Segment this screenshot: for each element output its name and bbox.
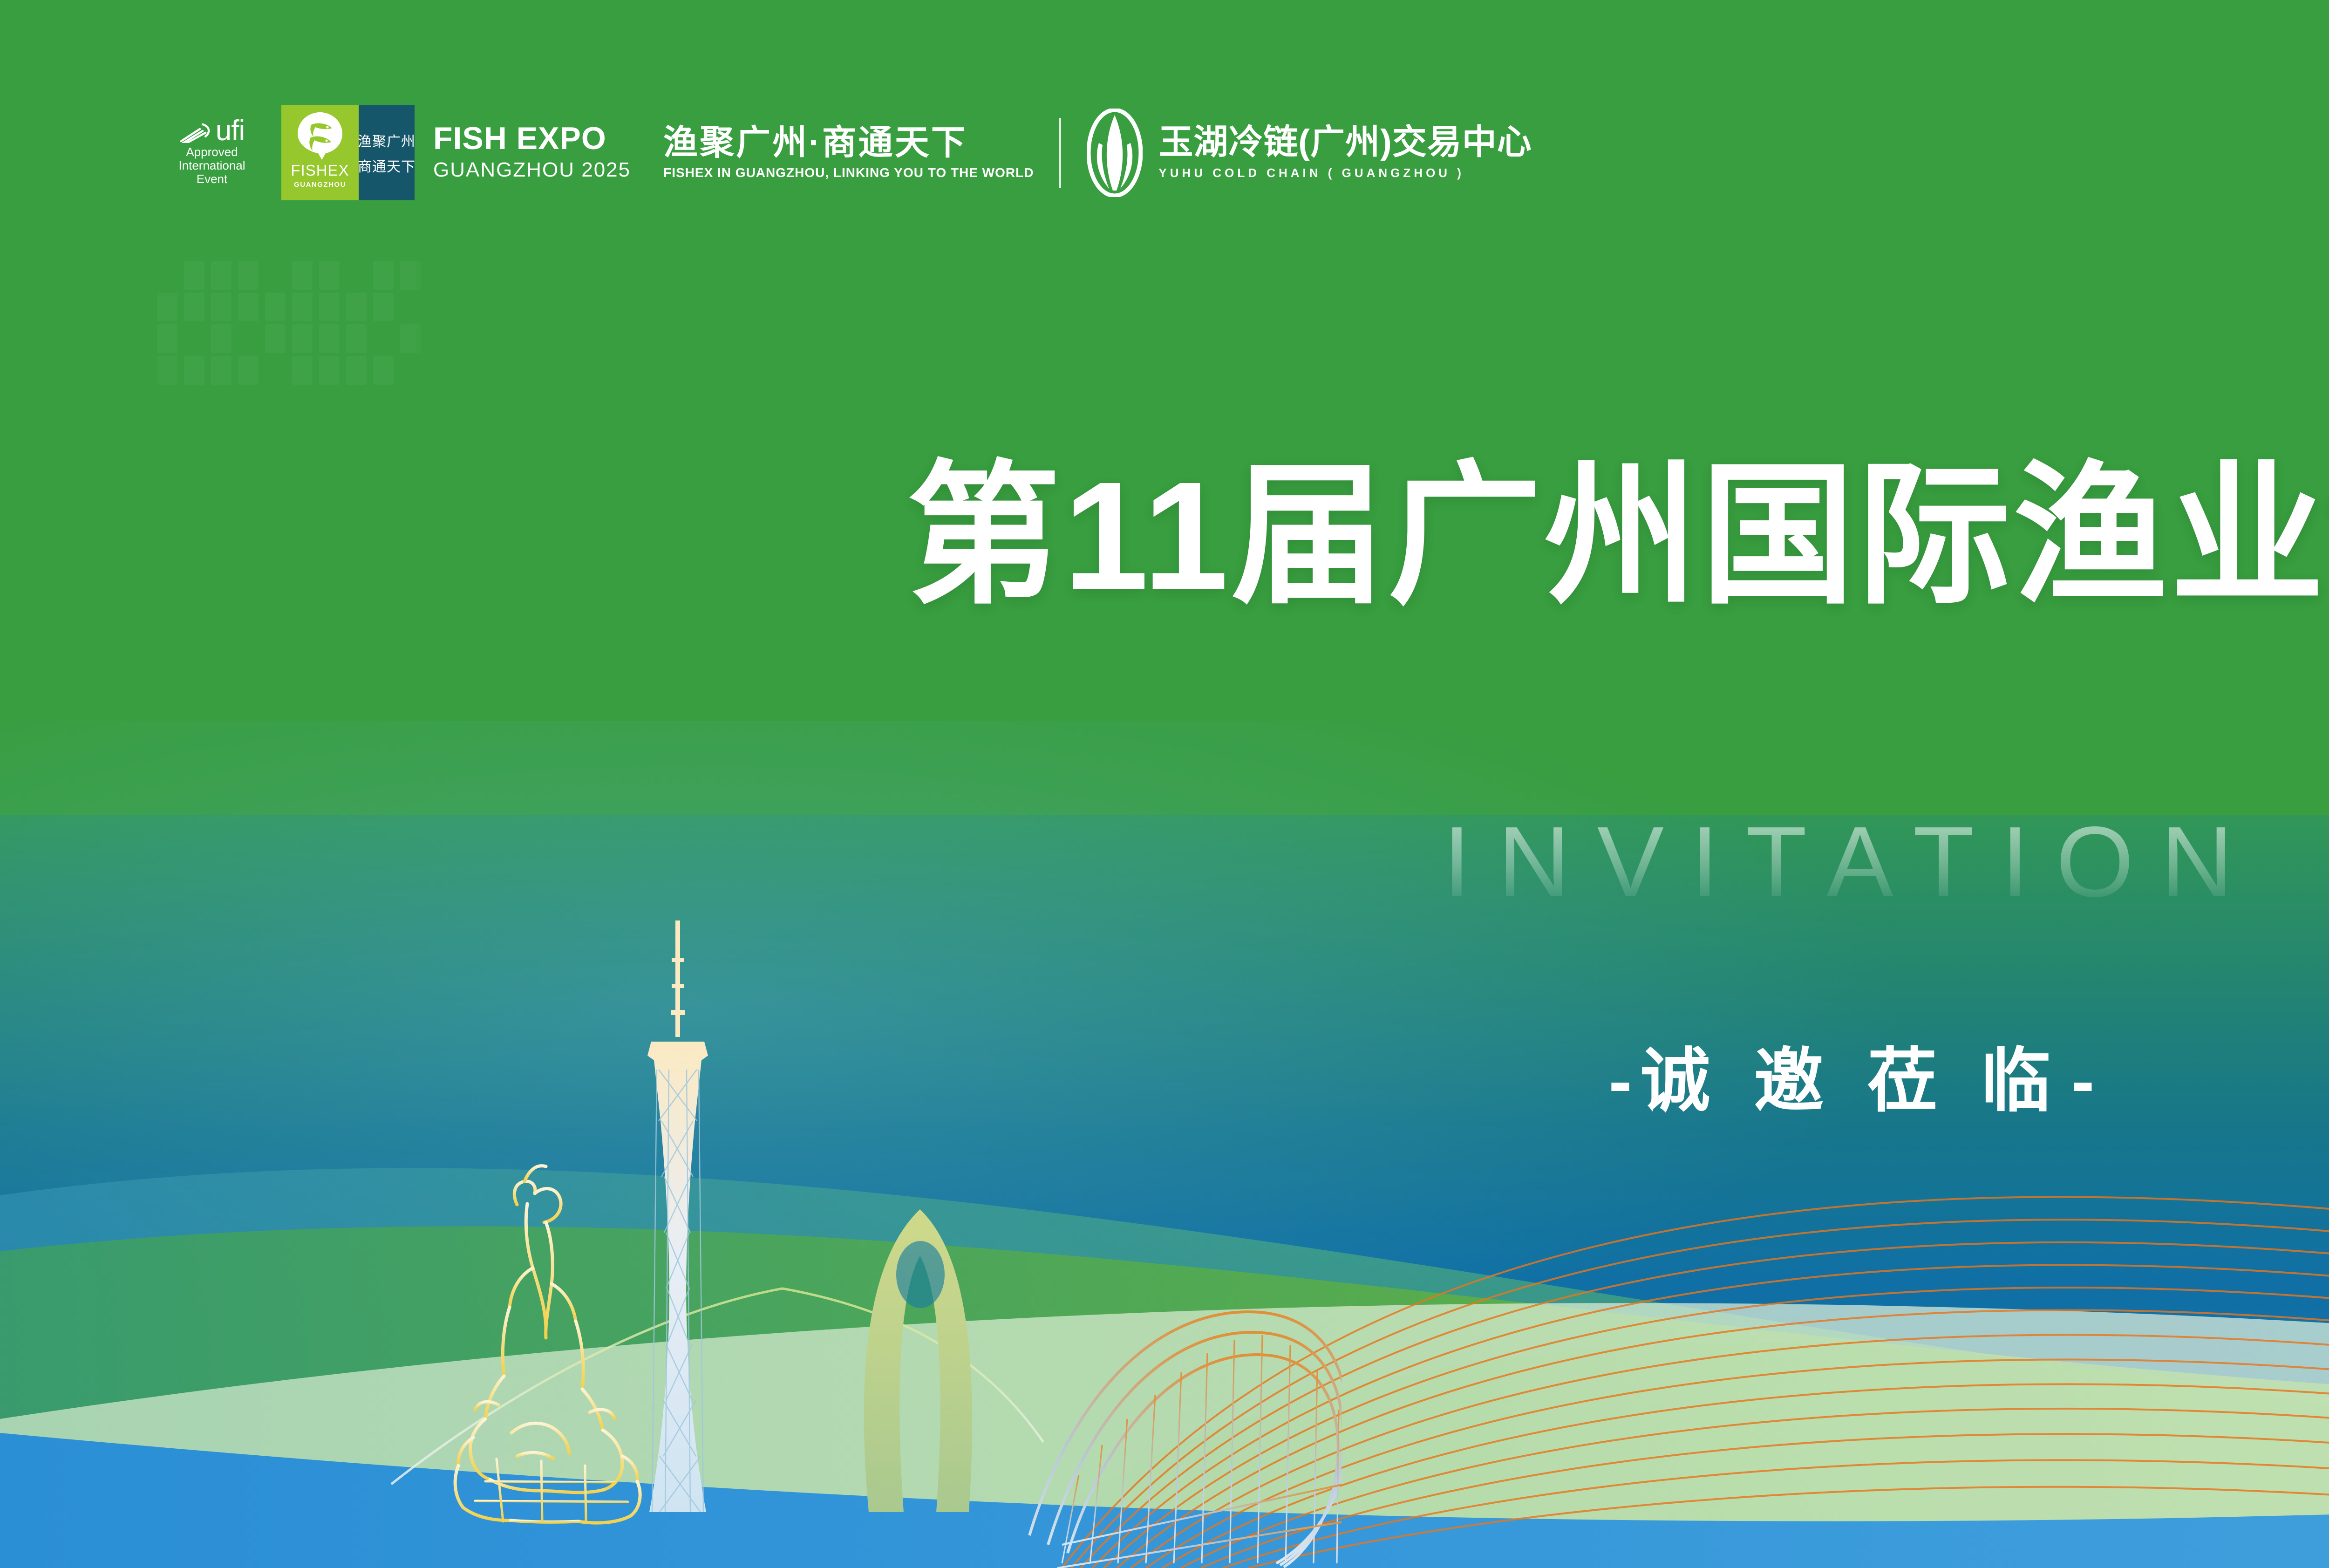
ufi-subtitle-1: Approved	[186, 145, 238, 159]
fishex-cn-line-2: 商通天下	[358, 155, 415, 176]
grid-watermark	[156, 261, 445, 387]
slogan-english: FISHEX IN GUANGZHOU, LINKING YOU TO THE …	[663, 165, 1034, 180]
ufi-subtitle-2: International	[178, 159, 245, 172]
fish-expo-title: FISH EXPO	[433, 123, 631, 154]
five-rams-statue	[455, 1166, 640, 1523]
header-divider	[1059, 118, 1061, 188]
ufi-subtitle-3: Event	[197, 172, 228, 186]
fishex-city: GUANGZHOU	[294, 181, 346, 189]
haixinsha-truss	[1029, 1312, 1342, 1568]
canton-tower	[647, 920, 708, 1512]
yuhu-cold-chain-logo: 玉湖冷链(广州)交易中心 YUHU COLD CHAIN ( GUANGZHOU…	[1087, 109, 1532, 197]
yuhu-cn-name: 玉湖冷链(广州)交易中心	[1158, 125, 1532, 159]
guangzhou-skyline	[363, 902, 1342, 1568]
liede-bridge-arch	[864, 1209, 972, 1512]
fish-expo-subtitle: GUANGZHOU 2025	[433, 157, 631, 183]
ufi-swoosh-icon	[179, 123, 214, 143]
fishex-cn-line-1: 渔聚广州	[358, 130, 415, 150]
leaf-mark-icon	[1087, 109, 1143, 197]
event-slogan: 渔聚广州·商通天下 FISHEX IN GUANGZHOU, LINKING Y…	[663, 125, 1034, 180]
slogan-chinese: 渔聚广州·商通天下	[663, 125, 1034, 160]
invitation-banner: ufi Approved International Event FISHEX …	[0, 0, 2329, 1568]
fishex-name: FISHEX	[291, 162, 349, 179]
logo-row: ufi Approved International Event FISHEX …	[154, 105, 1532, 200]
fishex-logo-left: FISHEX GUANGZHOU	[281, 105, 359, 200]
page-title: 第11届广州国际渔业博览会	[0, 459, 2329, 613]
fish-leaf-emblem-icon	[295, 110, 345, 161]
ufi-logo: ufi Approved International Event	[154, 119, 270, 186]
fishex-logo-right: 渔聚广州 商通天下	[359, 105, 415, 200]
fish-expo-wordmark: FISH EXPO GUANGZHOU 2025	[433, 123, 631, 183]
ufi-wordmark: ufi	[216, 119, 245, 143]
yuhu-en-name: YUHU COLD CHAIN ( GUANGZHOU )	[1158, 166, 1532, 180]
fishex-logo: FISHEX GUANGZHOU 渔聚广州 商通天下	[281, 105, 415, 200]
